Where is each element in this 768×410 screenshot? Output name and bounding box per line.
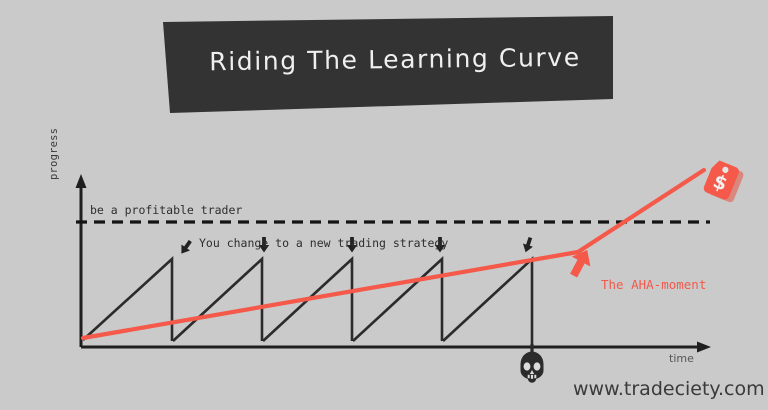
skull-tooth-gap-1 [531,375,533,379]
y-axis-arrowhead [76,174,87,188]
site-watermark: www.tradeciety.com [573,378,765,400]
x-axis-label: time [669,352,694,365]
skull-eye-left [524,362,531,370]
strategy-change-label: You change to a new trading strategy [199,236,448,250]
skull-tooth-gap-3 [534,375,536,378]
infographic-canvas: Riding The Learning Curve [0,0,768,410]
sawtooth-cycle-4 [353,259,442,341]
profitability-threshold-label: be a profitable trader [90,203,242,217]
skull-tooth-gap-2 [528,375,530,378]
sawtooth-cycle-2 [173,259,262,341]
skull-icon [521,344,544,383]
aha-moment-label: The AHA-moment [601,277,706,292]
x-axis-arrowhead [697,342,711,353]
y-axis-label: progress [48,128,60,180]
progress-trend-line [83,170,704,338]
skull-eye-right [534,362,541,370]
price-tag-icon: $ [702,159,745,204]
strategy-change-arrow-5 [521,236,536,254]
strategy-change-arrow-1 [177,238,194,257]
